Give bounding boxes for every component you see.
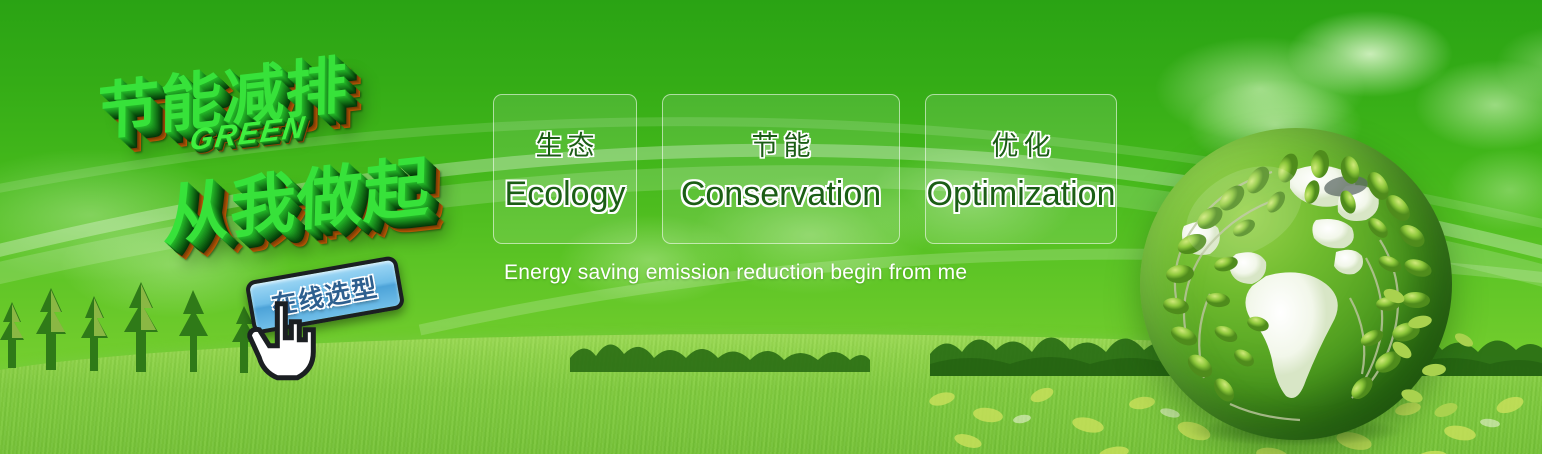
- online-selection-label: 在线选型: [269, 268, 382, 322]
- feature-panel-ecology-cn: 生态: [531, 124, 600, 163]
- cloud-icon: [1255, 0, 1485, 114]
- feature-panel-conservation-en: Conservation: [681, 175, 881, 214]
- cloud-icon: [1470, 10, 1542, 120]
- feature-panel-optimization[interactable]: 优化 Optimization: [925, 94, 1117, 244]
- feature-panel-conservation[interactable]: 节能 Conservation: [662, 94, 900, 244]
- hero-title-artwork: 节能减排 GREEN 从我做起: [83, 6, 509, 300]
- feature-panel-optimization-cn: 优化: [987, 124, 1056, 163]
- drifting-leaves-icon: [1376, 278, 1486, 428]
- feature-panel-ecology-en: Ecology: [505, 175, 626, 214]
- feature-panel-conservation-cn: 节能: [747, 124, 816, 163]
- feature-panel-group: 生态 Ecology 节能 Conservation 优化 Optimizati…: [493, 94, 1117, 244]
- eco-banner: 节能减排 GREEN 从我做起 在线选型 生态 Ecology 节能 Conse…: [0, 0, 1542, 454]
- feature-panel-optimization-en: Optimization: [927, 175, 1116, 214]
- green-earth-globe: [1140, 128, 1452, 440]
- feature-panel-ecology[interactable]: 生态 Ecology: [493, 94, 637, 244]
- banner-tagline: Energy saving emission reduction begin f…: [504, 261, 967, 285]
